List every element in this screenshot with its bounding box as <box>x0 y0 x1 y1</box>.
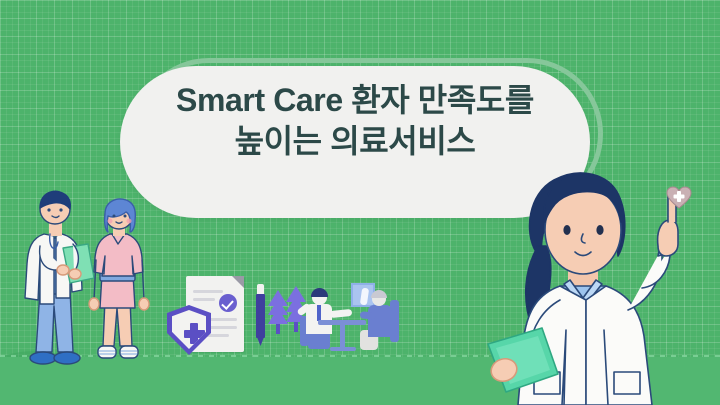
title-line-2: 높이는 의료서비스 <box>120 121 590 162</box>
consult-table-leg <box>340 325 345 349</box>
x-ray-bone <box>360 288 369 306</box>
slide-canvas: Smart Care 환자 만족도를 높이는 의료서비스 <box>0 0 720 405</box>
title-line-1: Smart Care 환자 만족도를 <box>120 80 590 121</box>
doctor-tie <box>317 305 321 321</box>
patient-in-pink-scrubs <box>86 196 152 368</box>
pen-body <box>256 294 265 338</box>
doctor-with-clipboard <box>18 186 96 368</box>
document-fold-corner <box>232 276 244 288</box>
doctor-legs <box>308 334 330 349</box>
pen-icon <box>256 284 265 346</box>
consult-table-foot <box>330 347 356 351</box>
pen-tip <box>257 337 264 346</box>
page-title: Smart Care 환자 만족도를 높이는 의료서비스 <box>120 80 590 162</box>
document-text-line <box>193 290 223 293</box>
heart-with-cross-icon <box>666 186 692 210</box>
document-text-line <box>193 298 215 301</box>
seated-patient-body <box>368 305 392 337</box>
approved-check-icon <box>219 294 237 312</box>
cross-icon <box>184 330 205 338</box>
